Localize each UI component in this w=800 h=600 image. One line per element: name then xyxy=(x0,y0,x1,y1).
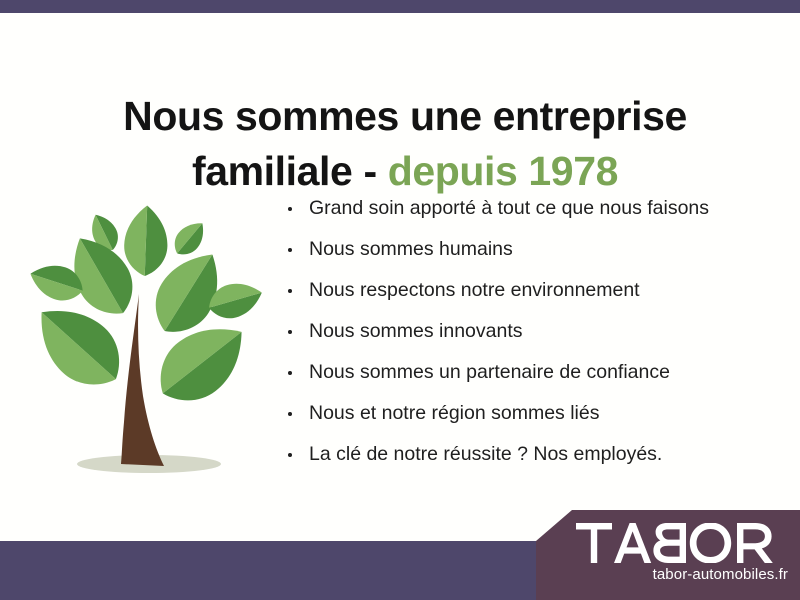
bullet-dot-icon xyxy=(288,330,292,334)
tree-trunk xyxy=(121,294,164,466)
list-item-label: La clé de notre réussite ? Nos employés. xyxy=(309,443,662,465)
list-item-label: Nous respectons notre environnement xyxy=(309,279,640,301)
bullet-dot-icon xyxy=(288,412,292,416)
list-item-label: Nous sommes humains xyxy=(309,238,513,260)
list-item: Grand soin apporté à tout ce que nous fa… xyxy=(283,188,783,229)
slide-canvas: Nous sommes une entreprise familiale - d… xyxy=(0,0,800,600)
bullet-dot-icon xyxy=(288,371,292,375)
brand-logo-panel[interactable]: tabor-automobiles.fr xyxy=(536,510,800,600)
bullet-dot-icon xyxy=(288,453,292,457)
list-item: La clé de notre réussite ? Nos employés. xyxy=(283,434,783,475)
list-item: Nous respectons notre environnement xyxy=(283,270,783,311)
bullet-dot-icon xyxy=(288,289,292,293)
list-item-label: Nous sommes un partenaire de confiance xyxy=(309,361,670,383)
list-item: Nous sommes innovants xyxy=(283,311,783,352)
value-bullet-list: Grand soin apporté à tout ce que nous fa… xyxy=(283,188,783,475)
list-item: Nous et notre région sommes liés xyxy=(283,393,783,434)
tree-illustration xyxy=(18,182,270,482)
bullet-dot-icon xyxy=(288,207,292,211)
list-item-label: Nous sommes innovants xyxy=(309,320,523,342)
list-item: Nous sommes humains xyxy=(283,229,783,270)
list-item-label: Grand soin apporté à tout ce que nous fa… xyxy=(309,197,709,219)
bullet-dot-icon xyxy=(288,248,292,252)
list-item: Nous sommes un partenaire de confiance xyxy=(283,352,783,393)
logo-url-label: tabor-automobiles.fr xyxy=(536,566,800,583)
tabor-wordmark xyxy=(576,523,786,563)
headline-line-1: Nous sommes une entreprise xyxy=(123,93,687,139)
top-brand-bar xyxy=(0,0,800,13)
list-item-label: Nous et notre région sommes liés xyxy=(309,402,599,424)
